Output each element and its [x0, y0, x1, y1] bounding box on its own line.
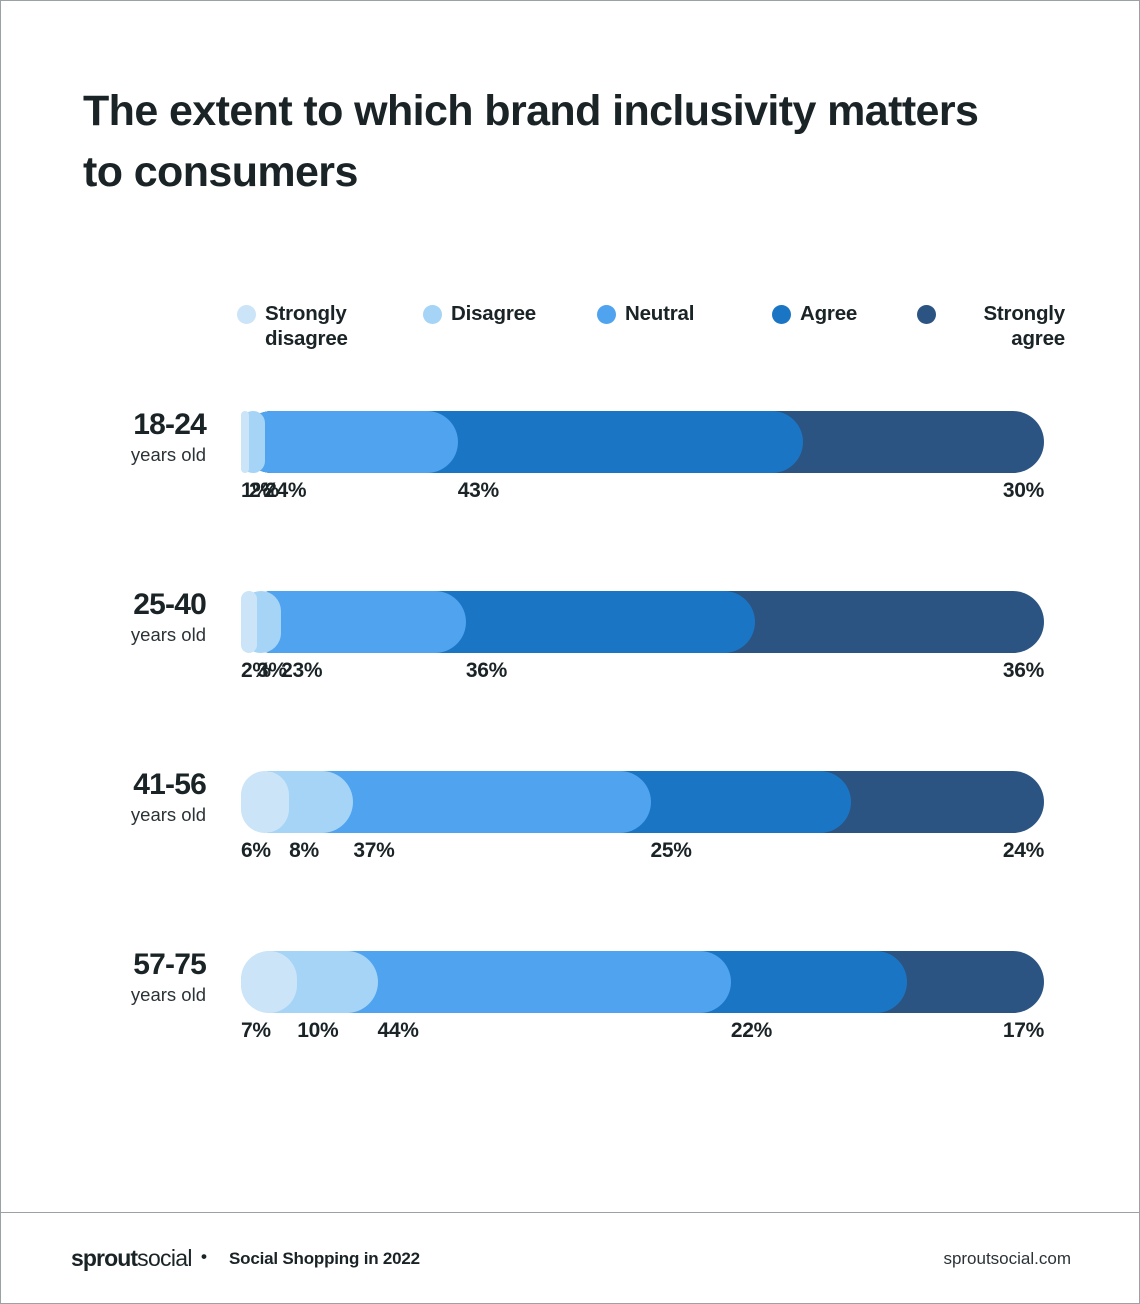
footer-caption: Social Shopping in 2022 [229, 1249, 420, 1269]
value-label: 10% [297, 1019, 338, 1043]
legend-item-agree: Agree [772, 301, 857, 326]
legend-item-neutral: Neutral [597, 301, 694, 326]
row-label: 18-24 years old [61, 409, 206, 469]
stacked-bar [241, 771, 1044, 833]
row-label: 41-56 years old [61, 769, 206, 829]
row-age-sublabel: years old [61, 981, 206, 1009]
row-age-sublabel: years old [61, 621, 206, 649]
legend-label: Disagree [451, 301, 536, 326]
bar-segment [241, 591, 257, 653]
legend-label: Strongly disagree [265, 301, 348, 351]
value-label: 23% [281, 659, 322, 683]
value-label-row: 1%2%24%43%30% [241, 479, 1044, 509]
value-label-row: 6%8%37%25%24% [241, 839, 1044, 869]
row-age-sublabel: years old [61, 441, 206, 469]
value-label: 6% [241, 839, 271, 863]
stacked-bar [241, 591, 1044, 653]
value-label: 36% [466, 659, 507, 683]
stacked-bar [241, 411, 1044, 473]
value-label: 8% [289, 839, 319, 863]
value-label: 24% [265, 479, 306, 503]
value-label: 37% [353, 839, 394, 863]
legend-label: Agree [800, 301, 857, 326]
row-label: 25-40 years old [61, 589, 206, 649]
legend-swatch-icon [917, 305, 936, 324]
legend-swatch-icon [772, 305, 791, 324]
legend-item-disagree: Disagree [423, 301, 536, 326]
bar-segment [241, 951, 297, 1013]
stacked-bar [241, 951, 1044, 1013]
legend-swatch-icon [597, 305, 616, 324]
value-label: 25% [651, 839, 692, 863]
footer: sproutsocial • Social Shopping in 2022 s… [1, 1241, 1140, 1281]
value-label: 22% [731, 1019, 772, 1043]
legend-label: Strongly agree [945, 301, 1065, 351]
value-label: 44% [378, 1019, 419, 1043]
infographic-canvas: The extent to which brand inclusivity ma… [0, 0, 1140, 1304]
legend-item-strongly-disagree: Strongly disagree [237, 301, 348, 351]
bar-segment [241, 771, 289, 833]
value-label-row: 2%3%23%36%36% [241, 659, 1044, 689]
legend-item-strongly-agree: Strongly agree [917, 301, 1065, 351]
footer-divider [1, 1212, 1140, 1213]
chart-row-18-24: 18-24 years old 1%2%24%43%30% [1, 401, 1140, 521]
row-label: 57-75 years old [61, 949, 206, 1009]
chart-legend: Strongly disagree Disagree Neutral Agree… [237, 301, 1057, 367]
value-label: 17% [1003, 1019, 1044, 1043]
value-label: 24% [1003, 839, 1044, 863]
sprout-social-logo: sproutsocial [71, 1245, 192, 1272]
row-age-label: 57-75 [61, 949, 206, 981]
bar-segment [241, 411, 458, 473]
value-label: 30% [1003, 479, 1044, 503]
legend-swatch-icon [237, 305, 256, 324]
bar-segment [241, 411, 249, 473]
footer-url: sproutsocial.com [943, 1249, 1071, 1269]
logo-bold-text: sprout [71, 1245, 137, 1272]
legend-swatch-icon [423, 305, 442, 324]
value-label: 7% [241, 1019, 271, 1043]
row-age-label: 25-40 [61, 589, 206, 621]
row-age-label: 18-24 [61, 409, 206, 441]
legend-label: Neutral [625, 301, 694, 326]
page-title: The extent to which brand inclusivity ma… [83, 81, 983, 203]
value-label-row: 7%10%44%22%17% [241, 1019, 1044, 1049]
row-age-label: 41-56 [61, 769, 206, 801]
chart-row-41-56: 41-56 years old 6%8%37%25%24% [1, 761, 1140, 881]
row-age-sublabel: years old [61, 801, 206, 829]
chart-row-25-40: 25-40 years old 2%3%23%36%36% [1, 581, 1140, 701]
value-label: 43% [458, 479, 499, 503]
value-label: 36% [1003, 659, 1044, 683]
footer-separator-dot: • [201, 1247, 207, 1267]
chart-row-57-75: 57-75 years old 7%10%44%22%17% [1, 941, 1140, 1061]
logo-light-text: social [137, 1245, 192, 1272]
